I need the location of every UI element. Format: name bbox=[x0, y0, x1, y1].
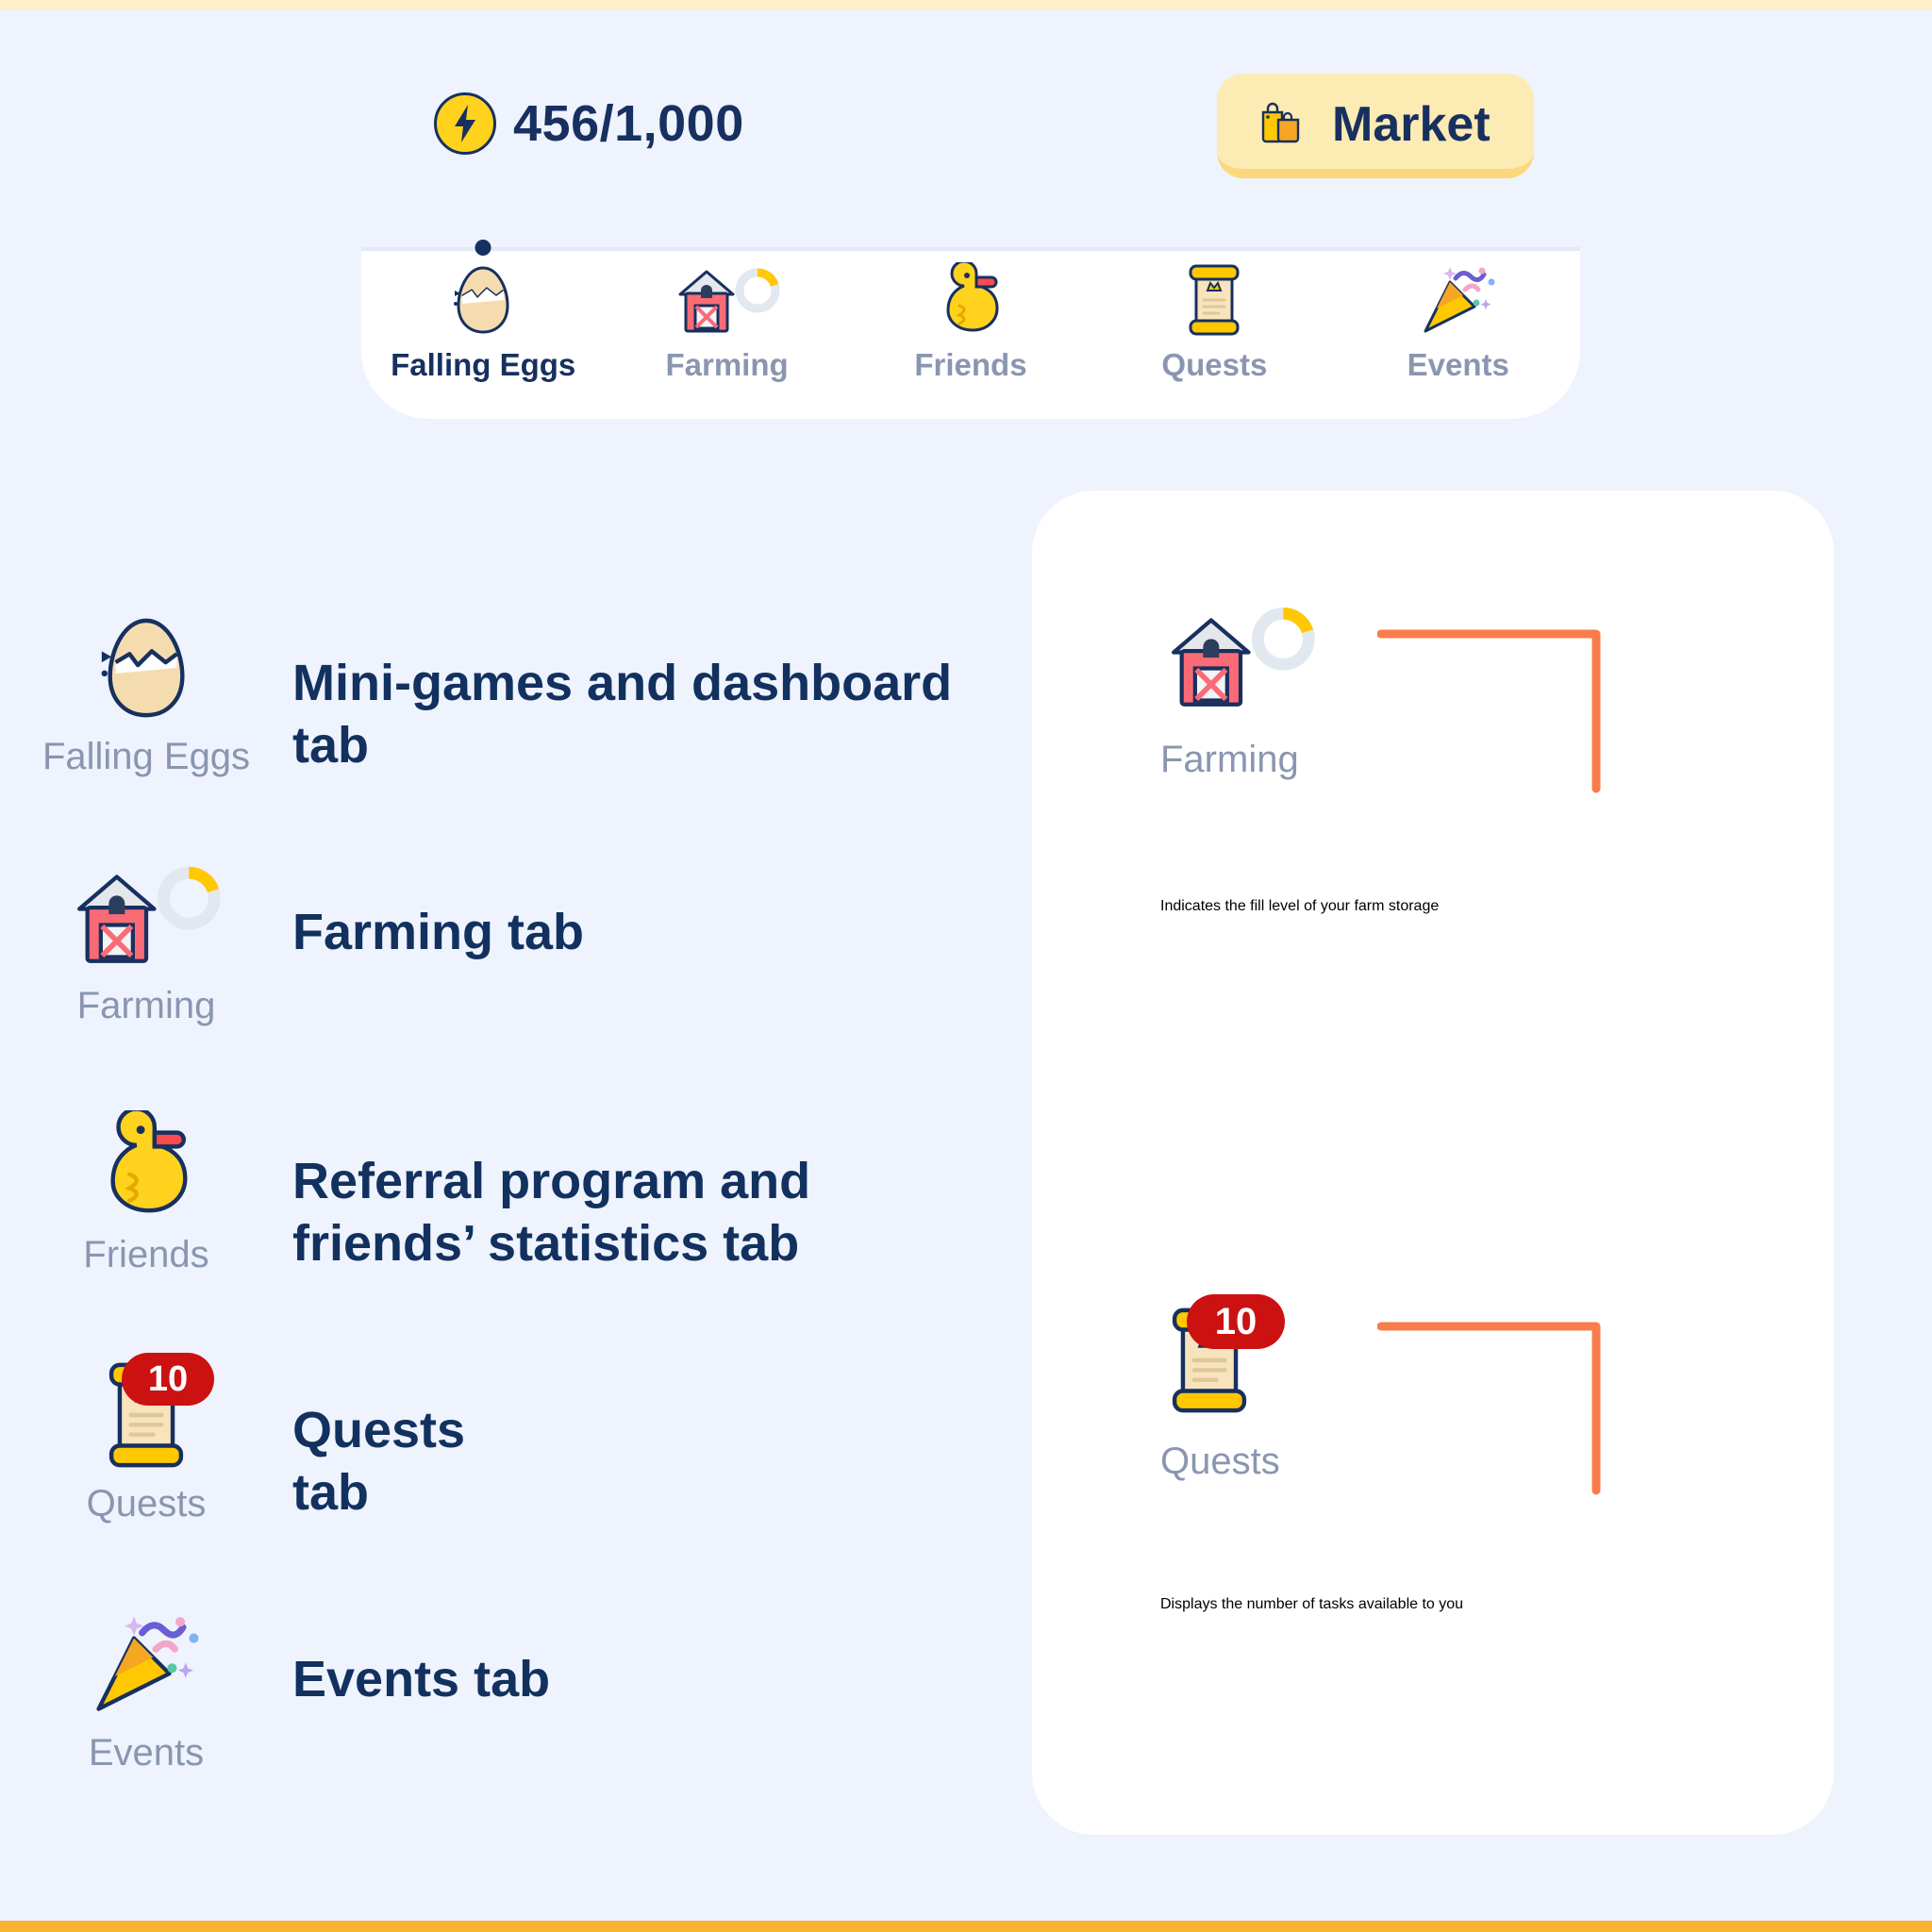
legend-description: Farming tab bbox=[292, 853, 1000, 964]
tab-bar: Falling Eggs Farming bbox=[361, 247, 1580, 419]
tab-farming[interactable]: Farming bbox=[624, 262, 831, 383]
cracked-egg-icon bbox=[447, 262, 519, 338]
tab-label: Falling Eggs bbox=[391, 347, 575, 383]
callout-sublabel: Quests bbox=[1160, 1441, 1280, 1483]
quests-count-badge: 10 bbox=[1187, 1294, 1285, 1349]
storage-progress-ring bbox=[740, 273, 775, 308]
legend-description: Quests tab bbox=[292, 1351, 1000, 1524]
legend-icon-column: 10 Quests bbox=[0, 1351, 292, 1525]
cracked-egg-icon bbox=[93, 611, 199, 724]
lightning-bolt-icon bbox=[434, 92, 496, 155]
legend-item-events: Events Events tab bbox=[0, 1600, 1000, 1849]
scroll-icon: 10 bbox=[97, 1358, 195, 1472]
barn-icon bbox=[66, 860, 226, 974]
tab-label: Friends bbox=[914, 347, 1026, 383]
market-button[interactable]: Market bbox=[1217, 74, 1534, 178]
party-popper-icon bbox=[88, 1607, 205, 1721]
callout-sublabel: Farming bbox=[1160, 739, 1321, 781]
legend-sublabel: Events bbox=[89, 1732, 204, 1774]
legend-description: Referral program and friends’ statistics… bbox=[292, 1102, 1000, 1275]
market-button-label: Market bbox=[1332, 96, 1491, 153]
legend-icon-column: Friends bbox=[0, 1102, 292, 1276]
storage-progress-ring bbox=[1257, 613, 1308, 664]
legend-description: Mini-games and dashboard tab bbox=[292, 604, 1000, 777]
callout-farming: Farming bbox=[1160, 604, 1321, 781]
callout-text-quests: Displays the number of tasks available t… bbox=[1160, 1596, 1764, 1613]
active-tab-indicator-dot bbox=[475, 240, 491, 256]
legend-description: Events tab bbox=[292, 1600, 1000, 1711]
barn-icon bbox=[1160, 604, 1321, 717]
callout-quests: 10 Quests bbox=[1160, 1302, 1280, 1483]
badge-count: 10 bbox=[148, 1361, 188, 1397]
callout-text-farming: Indicates the fill level of your farm st… bbox=[1160, 898, 1764, 915]
legend-icon-column: Farming bbox=[0, 853, 292, 1027]
tab-quests[interactable]: Quests bbox=[1110, 262, 1318, 383]
legend-item-quests: 10 Quests Quests tab bbox=[0, 1351, 1000, 1600]
legend-sublabel: Farming bbox=[77, 985, 216, 1027]
tab-label: Farming bbox=[665, 347, 788, 383]
energy-counter: 456/1,000 bbox=[434, 92, 744, 155]
shopping-bags-icon bbox=[1255, 94, 1309, 154]
quests-count-badge: 10 bbox=[122, 1353, 214, 1406]
legend-item-farming: Farming Farming tab bbox=[0, 853, 1000, 1102]
legend-item-falling-eggs: Falling Eggs Mini-games and dashboard ta… bbox=[0, 604, 1000, 853]
duck-icon bbox=[935, 262, 1007, 338]
energy-value: 456/1,000 bbox=[513, 94, 744, 153]
duck-icon bbox=[93, 1109, 199, 1223]
legend-icon-column: Events bbox=[0, 1600, 292, 1774]
scroll-icon bbox=[1181, 262, 1247, 338]
callout-connector-line-quests bbox=[1377, 1319, 1613, 1498]
explainer-card: Farming Indicates the fill level of your… bbox=[1032, 491, 1834, 1835]
tab-events[interactable]: Events bbox=[1355, 262, 1562, 383]
bottom-accent-strip bbox=[0, 1921, 1932, 1932]
legend-list: Falling Eggs Mini-games and dashboard ta… bbox=[0, 604, 1000, 1849]
storage-progress-ring bbox=[163, 873, 214, 924]
tab-label: Events bbox=[1407, 347, 1509, 383]
legend-icon-column: Falling Eggs bbox=[0, 604, 292, 778]
legend-item-friends: Friends Referral program and friends’ st… bbox=[0, 1102, 1000, 1351]
scroll-icon: 10 bbox=[1160, 1302, 1258, 1419]
legend-sublabel: Quests bbox=[87, 1483, 207, 1525]
tab-falling-eggs[interactable]: Falling Eggs bbox=[379, 262, 587, 383]
party-popper-icon bbox=[1418, 262, 1499, 338]
tab-label: Quests bbox=[1161, 347, 1267, 383]
tab-friends[interactable]: Friends bbox=[867, 262, 1074, 383]
legend-sublabel: Friends bbox=[83, 1234, 208, 1276]
badge-count: 10 bbox=[1215, 1303, 1257, 1341]
barn-icon bbox=[671, 262, 784, 338]
callout-connector-line-farming bbox=[1377, 626, 1613, 796]
top-accent-strip bbox=[0, 0, 1932, 9]
legend-sublabel: Falling Eggs bbox=[42, 736, 250, 778]
